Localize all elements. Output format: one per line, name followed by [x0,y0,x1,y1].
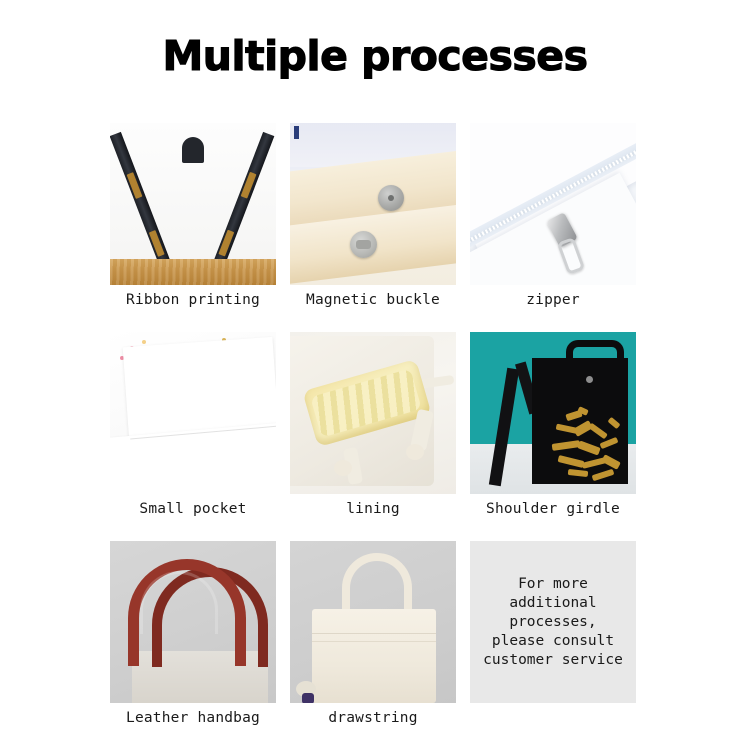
bag-stud [586,376,593,383]
cord-knot-left [334,460,352,476]
caption-zipper: zipper [470,285,636,324]
image-magnetic-buckle[interactable] [290,123,456,285]
ribbon-strap-left [110,132,170,263]
grid-cell-lining[interactable]: lining [290,332,456,533]
gold-print-artwork [548,406,626,484]
ribbon-gold-print [218,230,234,257]
magnetic-snap-lower [350,231,377,258]
image-shoulder-girdle[interactable] [470,332,636,494]
magnetic-snap-upper [378,185,404,211]
wood-board [110,259,276,285]
note-panel-text: For more additional processes, please co… [483,575,623,670]
process-grid: Ribbon printing Magnetic buckle [110,123,637,742]
image-ribbon-printing[interactable] [110,123,276,285]
drawstring-bead [302,693,314,703]
ribbon-strap-right [214,132,274,263]
ribbon-gold-print [127,172,143,199]
page-title: Multiple processes [0,36,750,77]
grid-cell-zipper[interactable]: zipper [470,123,636,324]
grid-cell-shoulder-girdle[interactable]: Shoulder girdle [470,332,636,533]
corner-mark [294,126,299,139]
ribbon-gold-print [241,172,257,199]
grid-cell-note-panel[interactable]: For more additional processes, please co… [470,541,636,742]
tote-seam-upper [312,633,436,634]
caption-leather-handbag: Leather handbag [110,703,276,742]
caption-small-pocket: Small pocket [110,494,276,533]
image-lining[interactable] [290,332,456,494]
grid-cell-leather-handbag[interactable]: Leather handbag [110,541,276,742]
image-small-pocket[interactable] [110,332,276,494]
tote-body [312,609,436,703]
grid-cell-ribbon-printing[interactable]: Ribbon printing [110,123,276,324]
image-drawstring[interactable] [290,541,456,703]
image-zipper[interactable] [470,123,636,285]
note-panel: For more additional processes, please co… [470,541,636,703]
image-leather-handbag[interactable] [110,541,276,703]
grid-cell-magnetic-buckle[interactable]: Magnetic buckle [290,123,456,324]
caption-shoulder-girdle: Shoulder girdle [470,494,636,533]
caption-magnetic-buckle: Magnetic buckle [290,285,456,324]
caption-drawstring: drawstring [290,703,456,742]
ribbon-apex [182,137,204,163]
grid-cell-drawstring[interactable]: drawstring [290,541,456,742]
tote-seam-lower [312,641,436,642]
ribbon-gold-print [149,230,165,257]
grid-cell-small-pocket[interactable]: Small pocket [110,332,276,533]
cord-knot-right [406,444,424,460]
page-root: Multiple processes Ribbon printing [0,0,750,750]
caption-lining: lining [290,494,456,533]
caption-ribbon-printing: Ribbon printing [110,285,276,324]
